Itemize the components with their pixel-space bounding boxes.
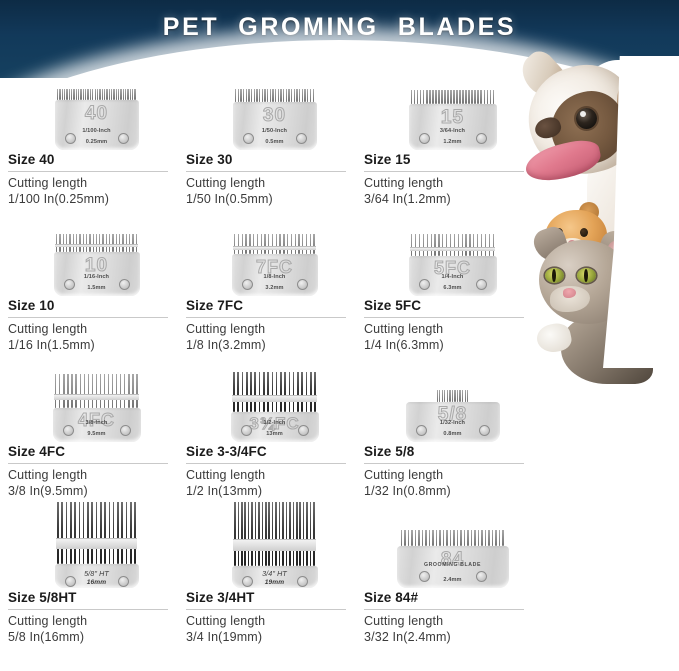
blade-caption: Size 7FCCutting length1/8 In(3.2mm) <box>182 297 367 353</box>
blade-size-label: Size 7FC <box>186 297 367 314</box>
caption-divider <box>364 317 524 318</box>
blade-size-label: Size 10 <box>8 297 189 314</box>
blade-screw-right <box>298 425 309 436</box>
cutting-length-label: Cutting length <box>364 614 545 630</box>
dog-eye <box>576 108 597 129</box>
blade-screw-right <box>297 279 308 290</box>
blade-inch-spec: GROOMING BLADE <box>397 562 509 568</box>
blade-engraved-number: 30 <box>233 105 317 127</box>
blade-illustration: 4FC3/8-Inch9.5mm <box>4 370 189 442</box>
blade-screw-left <box>243 133 254 144</box>
blade-screw-right <box>479 425 490 436</box>
caption-divider <box>186 609 346 610</box>
blade-size-label: Size 30 <box>186 151 367 168</box>
cutting-length-label: Cutting length <box>364 468 545 484</box>
cutting-length-label: Cutting length <box>186 322 367 338</box>
blade-screw-right <box>120 425 131 436</box>
blade-card[interactable]: 5/8" HT16mmSize 5/8HTCutting length5/8 I… <box>4 516 189 645</box>
cutting-length-value: 3/8 In(9.5mm) <box>8 484 189 500</box>
cutting-length-value: 1/8 In(3.2mm) <box>186 338 367 354</box>
blade-size-label: Size 84# <box>364 589 545 606</box>
caption-divider <box>186 171 346 172</box>
blade-screw-left <box>419 133 430 144</box>
blade-caption: Size 3-3/4FCCutting length1/2 In(13mm) <box>182 443 367 499</box>
caption-divider <box>8 609 168 610</box>
blade-caption: Size 5/8HTCutting length5/8 In(16mm) <box>4 589 189 645</box>
blade-screw-right <box>119 279 130 290</box>
blade-size-label: Size 3-3/4FC <box>186 443 367 460</box>
blade-screw-right <box>118 133 129 144</box>
blade-caption: Size 10Cutting length1/16 In(1.5mm) <box>4 297 189 353</box>
blade-illustration: 3¾FC1/2-Inch13mm <box>182 370 367 442</box>
blade-screw-left <box>65 133 76 144</box>
blade-illustration: 3/4" HT19mm <box>182 516 367 588</box>
blade-body: 3¾FC1/2-Inch13mm <box>231 412 319 442</box>
blade-screw-right <box>118 576 129 587</box>
blade-illustration: 7FC1/8-Inch3.2mm <box>182 224 367 296</box>
blade-screw-left <box>419 571 430 582</box>
blade-screw-left <box>241 425 252 436</box>
cutting-length-value: 1/2 In(13mm) <box>186 484 367 500</box>
blade-screw-left <box>242 279 253 290</box>
blade-screw-right <box>476 571 487 582</box>
blade-body: 153/64-Inch1.2mm <box>409 104 497 150</box>
blade-caption: Size 84#Cutting length3/32 In(2.4mm) <box>360 589 545 645</box>
blade-body: 301/50-Inch0.5mm <box>233 102 317 150</box>
blade-screw-left <box>64 279 75 290</box>
cutting-length-label: Cutting length <box>8 322 189 338</box>
cutting-length-label: Cutting length <box>8 176 189 192</box>
dog-hamster-cat-photo <box>507 50 679 380</box>
blade-body: 101/16-Inch1.5mm <box>54 252 140 296</box>
blade-screw-right <box>476 279 487 290</box>
blade-caption: Size 30Cutting length1/50 In(0.5mm) <box>182 151 367 207</box>
blade-size-label: Size 5/8 <box>364 443 545 460</box>
caption-divider <box>364 171 524 172</box>
cutting-length-label: Cutting length <box>186 176 367 192</box>
blade-caption: Size 4FCCutting length3/8 In(9.5mm) <box>4 443 189 499</box>
cat-left-eye <box>545 268 564 283</box>
cutting-length-value: 1/16 In(1.5mm) <box>8 338 189 354</box>
blade-body: 4FC3/8-Inch9.5mm <box>53 408 141 442</box>
page-title: PET GROMING BLADES <box>0 13 679 42</box>
caption-divider <box>8 463 168 464</box>
blade-illustration: 101/16-Inch1.5mm <box>4 224 189 296</box>
caption-divider <box>364 609 524 610</box>
blade-card[interactable]: 3¾FC1/2-Inch13mmSize 3-3/4FCCutting leng… <box>182 370 367 499</box>
blade-card[interactable]: 84GROOMING BLADE2.4mmSize 84#Cutting len… <box>360 516 545 645</box>
blade-engraved-number: 40 <box>55 103 139 125</box>
blade-caption: Size 3/4HTCutting length3/4 In(19mm) <box>182 589 367 645</box>
product-infographic: PET GROMING BLADES 401/100-Inch0.25mmSiz… <box>0 0 679 671</box>
blade-engraved-number: 15 <box>409 107 497 129</box>
blade-illustration: 5/81/32-Inch0.8mm <box>360 370 545 442</box>
cutting-length-value: 1/32 In(0.8mm) <box>364 484 545 500</box>
cutting-length-label: Cutting length <box>8 468 189 484</box>
cutting-length-label: Cutting length <box>186 614 367 630</box>
blade-card[interactable]: 5/81/32-Inch0.8mmSize 5/8Cutting length1… <box>360 370 545 499</box>
blade-size-label: Size 5/8HT <box>8 589 189 606</box>
blade-body: 5/8" HT16mm <box>55 564 139 588</box>
blade-card[interactable]: 301/50-Inch0.5mmSize 30Cutting length1/5… <box>182 78 367 207</box>
blade-screw-left <box>63 425 74 436</box>
blade-mm-spec: 2.4mm <box>397 577 509 583</box>
blade-body: 401/100-Inch0.25mm <box>55 100 139 150</box>
caption-divider <box>186 463 346 464</box>
blade-screw-left <box>242 576 253 587</box>
blade-illustration: 84GROOMING BLADE2.4mm <box>360 516 545 588</box>
blade-body: 7FC1/8-Inch3.2mm <box>232 254 318 296</box>
blade-size-label: Size 40 <box>8 151 189 168</box>
blade-card[interactable]: 4FC3/8-Inch9.5mmSize 4FCCutting length3/… <box>4 370 189 499</box>
blade-screw-right <box>296 133 307 144</box>
cutting-length-value: 1/50 In(0.5mm) <box>186 192 367 208</box>
caption-divider <box>186 317 346 318</box>
caption-divider <box>8 317 168 318</box>
blade-screw-right <box>297 576 308 587</box>
blade-screw-left <box>65 576 76 587</box>
cutting-length-value: 1/100 In(0.25mm) <box>8 192 189 208</box>
blade-screw-right <box>476 133 487 144</box>
cutting-length-value: 3/4 In(19mm) <box>186 630 367 646</box>
blade-card[interactable]: 3/4" HT19mmSize 3/4HTCutting length3/4 I… <box>182 516 367 645</box>
cutting-length-value: 3/32 In(2.4mm) <box>364 630 545 646</box>
blade-screw-left <box>419 279 430 290</box>
blade-caption: Size 40Cutting length1/100 In(0.25mm) <box>4 151 189 207</box>
blade-caption: Size 5/8Cutting length1/32 In(0.8mm) <box>360 443 545 499</box>
blade-card[interactable]: 401/100-Inch0.25mmSize 40Cutting length1… <box>4 78 189 207</box>
cat-right-eye <box>577 268 596 283</box>
blade-card[interactable]: 101/16-Inch1.5mmSize 10Cutting length1/1… <box>4 224 189 353</box>
caption-divider <box>364 463 524 464</box>
blade-body: 5/81/32-Inch0.8mm <box>406 402 500 442</box>
blade-screw-left <box>416 425 427 436</box>
blade-body: 5FC1/4-Inch6.3mm <box>409 256 497 296</box>
blade-illustration: 5/8" HT16mm <box>4 516 189 588</box>
blade-illustration: 401/100-Inch0.25mm <box>4 78 189 150</box>
cutting-length-value: 5/8 In(16mm) <box>8 630 189 646</box>
blade-size-label: Size 4FC <box>8 443 189 460</box>
caption-divider <box>8 171 168 172</box>
blade-card[interactable]: 7FC1/8-Inch3.2mmSize 7FCCutting length1/… <box>182 224 367 353</box>
blade-body: 84GROOMING BLADE2.4mm <box>397 546 509 588</box>
blade-illustration: 301/50-Inch0.5mm <box>182 78 367 150</box>
blade-body: 3/4" HT19mm <box>232 566 318 588</box>
cutting-length-label: Cutting length <box>8 614 189 630</box>
blade-size-label: Size 3/4HT <box>186 589 367 606</box>
cutting-length-label: Cutting length <box>186 468 367 484</box>
